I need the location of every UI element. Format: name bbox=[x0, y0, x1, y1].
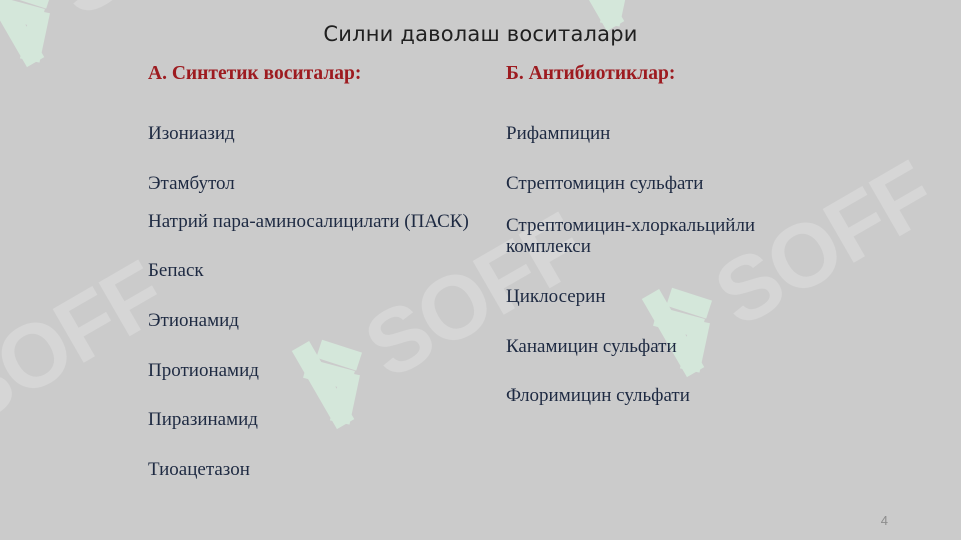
page-title: Силни даволаш воситалари bbox=[0, 22, 961, 46]
list-item: Бепаск bbox=[148, 232, 488, 282]
list-item: Этионамид bbox=[148, 282, 488, 332]
column-header-synthetic: А. Синтетик воситалар: bbox=[148, 62, 488, 85]
list-item: Тиоацетазон bbox=[148, 431, 488, 481]
list-item: Стрептомицин сульфати bbox=[506, 145, 836, 195]
list-item: Стрептомицин-хлоркальцийли комплекси bbox=[506, 195, 836, 258]
drug-list-synthetic: Изониазид Этамбутол Натрий пара-аминосал… bbox=[148, 91, 488, 480]
list-item: Протионамид bbox=[148, 332, 488, 382]
column-synthetic-agents: А. Синтетик воситалар: Изониазид Этамбут… bbox=[148, 62, 488, 481]
column-header-antibiotics: Б. Антибиотиклар: bbox=[506, 62, 836, 85]
presentation-slide: SOFF SOFF SOFF SOFF bbox=[0, 0, 961, 540]
page-number: 4 bbox=[881, 513, 888, 528]
list-item: Канамицин сульфати bbox=[506, 308, 836, 358]
list-item: Циклосерин bbox=[506, 258, 836, 308]
slide-content: Силни даволаш воситалари А. Синтетик вос… bbox=[0, 0, 961, 540]
list-item: Рифампицин bbox=[506, 91, 836, 145]
list-item: Натрий пара-аминосалицилати (ПАСК) bbox=[148, 195, 488, 233]
drug-list-antibiotics: Рифампицин Стрептомицин сульфати Стрепто… bbox=[506, 91, 836, 407]
list-item: Пиразинамид bbox=[148, 381, 488, 431]
column-antibiotics: Б. Антибиотиклар: Рифампицин Стрептомици… bbox=[506, 62, 836, 407]
list-item: Флоримицин сульфати bbox=[506, 357, 836, 407]
list-item: Этамбутол bbox=[148, 145, 488, 195]
list-item: Изониазид bbox=[148, 91, 488, 145]
